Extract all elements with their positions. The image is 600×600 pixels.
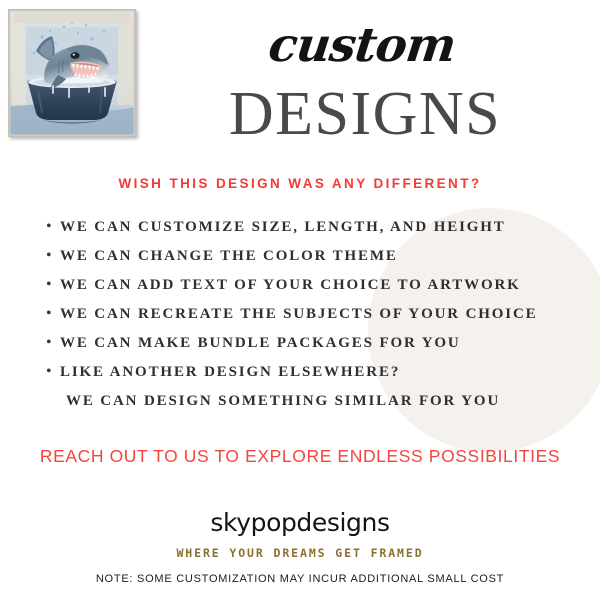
feature-label: WE CAN RECREATE THE SUBJECTS OF YOUR CHO…: [60, 306, 538, 323]
feature-label: WE CAN CUSTOMIZE SIZE, LENGTH, AND HEIGH…: [60, 219, 506, 236]
brand-tagline: WHERE YOUR DREAMS GET FRAMED: [0, 546, 600, 560]
list-item: • WE CAN ADD TEXT OF YOUR CHOICE TO ARTW…: [46, 277, 594, 306]
headline-serif-designs: DESIGNS: [150, 83, 580, 145]
shark-painting-artwork: [8, 9, 136, 137]
feature-label: WE CAN ADD TEXT OF YOUR CHOICE TO ARTWOR…: [60, 277, 521, 294]
feature-label: WE CAN CHANGE THE COLOR THEME: [60, 248, 398, 265]
question-subtitle: WISH THIS DESIGN WAS ANY DIFFERENT?: [0, 176, 600, 191]
bullet-icon: •: [46, 277, 60, 293]
bullet-icon: •: [46, 364, 60, 380]
bullet-icon: •: [46, 335, 60, 351]
bullet-icon: •: [46, 306, 60, 322]
list-item: • WE CAN DESIGN SOMETHING SIMILAR FOR YO…: [46, 393, 594, 422]
list-item: • LIKE ANOTHER DESIGN ELSEWHERE?: [46, 364, 594, 393]
list-item: • WE CAN CUSTOMIZE SIZE, LENGTH, AND HEI…: [46, 219, 594, 248]
promo-graphic-canvas: custom DESIGNS WISH THIS DESIGN WAS ANY …: [0, 0, 600, 600]
brand-logo-text: skypopdesigns: [0, 508, 600, 537]
bullet-icon: •: [46, 219, 60, 235]
feature-list: • WE CAN CUSTOMIZE SIZE, LENGTH, AND HEI…: [46, 219, 594, 422]
footer-disclaimer-note: NOTE: SOME CUSTOMIZATION MAY INCUR ADDIT…: [0, 573, 600, 585]
list-item: • WE CAN CHANGE THE COLOR THEME: [46, 248, 594, 277]
list-item: • WE CAN MAKE BUNDLE PACKAGES FOR YOU: [46, 335, 594, 364]
feature-label: LIKE ANOTHER DESIGN ELSEWHERE?: [60, 364, 400, 381]
headline-script-custom: custom: [266, 22, 464, 69]
feature-label: WE CAN MAKE BUNDLE PACKAGES FOR YOU: [60, 335, 461, 352]
feature-label: WE CAN DESIGN SOMETHING SIMILAR FOR YOU: [66, 393, 500, 410]
call-to-action-text: REACH OUT TO US TO EXPLORE ENDLESS POSSI…: [0, 446, 600, 467]
headline-block: custom DESIGNS: [150, 22, 580, 145]
product-image-shark-painting[interactable]: [8, 9, 136, 137]
list-item: • WE CAN RECREATE THE SUBJECTS OF YOUR C…: [46, 306, 594, 335]
bullet-icon: •: [46, 248, 60, 264]
